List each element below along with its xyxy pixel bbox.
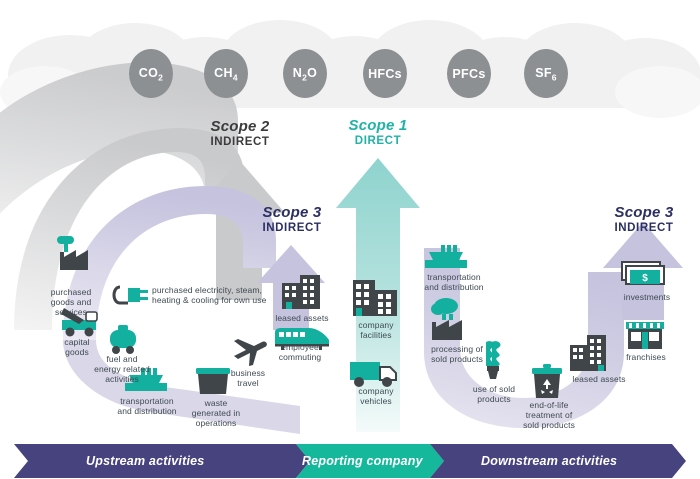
- scope3-right-heading: Scope 3 INDIRECT: [588, 204, 700, 235]
- scope2-title: Scope 2: [184, 118, 296, 135]
- ghg-scopes-diagram: $ CO2 CH4 N2O HFCs PFCs SF6 Scope 2 INDI…: [0, 0, 700, 479]
- scope3-right-title: Scope 3: [588, 204, 700, 221]
- scope1-subtitle: DIRECT: [322, 134, 434, 148]
- scope1-title: Scope 1: [322, 117, 434, 134]
- bar-label-reporting-company: Reporting company: [302, 454, 423, 468]
- label-transportation-and-distribution-downstream: transportationand distribution: [404, 272, 504, 292]
- fuel-tank-icon: [110, 325, 136, 354]
- label-end-of-life-treatment: end-of-lifetreatment ofsold products: [508, 400, 590, 430]
- gas-bubble-n2o: N2O: [283, 49, 327, 98]
- label-leased-assets-upstream: leased assets: [264, 313, 340, 323]
- gas-bubble-ch4: CH4: [204, 49, 248, 98]
- label-fuel-and-energy-related-activities: fuel andenergy relatedactivities: [72, 354, 172, 384]
- scope3-left-subtitle: INDIRECT: [236, 221, 348, 235]
- label-investments: investments: [608, 292, 686, 302]
- gas-label-pfcs: PFCs: [447, 67, 491, 81]
- gas-label-co2: CO2: [129, 65, 173, 82]
- scope1-heading: Scope 1 DIRECT: [322, 117, 434, 148]
- office-building-icon-downstream: [570, 335, 606, 371]
- scope2-subtitle: INDIRECT: [184, 135, 296, 149]
- gas-label-sf6: SF6: [524, 65, 568, 82]
- gas-bubble-co2: CO2: [129, 49, 173, 98]
- label-business-travel: businesstravel: [216, 368, 280, 388]
- gas-label-n2o: N2O: [283, 65, 327, 82]
- label-company-facilities: companyfacilities: [340, 320, 412, 340]
- label-purchased-electricity: purchased electricity, steam,heating & c…: [152, 285, 302, 305]
- recycle-bin-icon: [532, 364, 562, 398]
- bar-label-upstream: Upstream activities: [86, 454, 204, 468]
- scope3-right-subtitle: INDIRECT: [588, 221, 700, 235]
- scope2-heading: Scope 2 INDIRECT: [184, 118, 296, 149]
- money-icon: $: [622, 262, 664, 284]
- bar-label-downstream: Downstream activities: [481, 454, 617, 468]
- storefront-icon: [626, 322, 664, 349]
- gas-bubble-pfcs: PFCs: [447, 49, 491, 98]
- gas-bubble-sf6: SF6: [524, 49, 568, 98]
- gas-label-hfcs: HFCs: [363, 67, 407, 81]
- scope3-left-title: Scope 3: [236, 204, 348, 221]
- scope3-left-heading: Scope 3 INDIRECT: [236, 204, 348, 235]
- gas-label-ch4: CH4: [204, 65, 248, 82]
- factory-icon: [57, 236, 88, 270]
- power-plug-icon: [114, 287, 148, 303]
- label-employee-commuting: employeecommuting: [255, 342, 345, 362]
- label-franchises: franchises: [612, 352, 680, 362]
- label-leased-assets-downstream: leased assets: [560, 374, 638, 384]
- label-company-vehicles: companyvehicles: [340, 386, 412, 406]
- label-purchased-goods-and-services: purchasedgoods andservices: [26, 287, 116, 317]
- gas-bubble-hfcs: HFCs: [363, 49, 407, 98]
- label-processing-of-sold-products: processing ofsold products: [414, 344, 500, 364]
- svg-text:$: $: [642, 273, 648, 284]
- label-waste-generated-in-operations: wastegenerated inoperations: [177, 398, 255, 428]
